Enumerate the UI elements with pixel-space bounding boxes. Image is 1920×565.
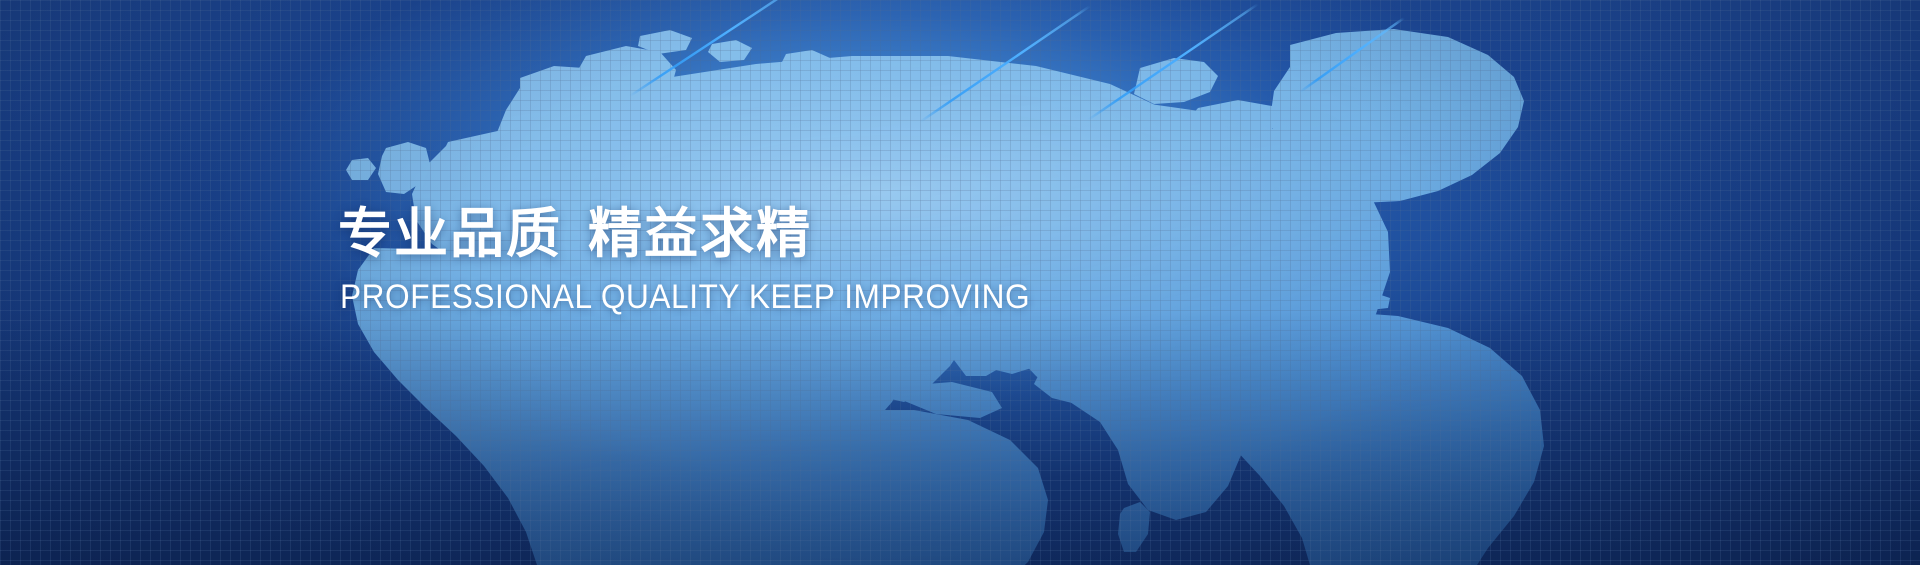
page-title: 专业品质精益求精 (338, 204, 1082, 264)
banner-copy: 专业品质精益求精 PROFESSIONAL QUALITY KEEP IMPRO… (338, 204, 1082, 316)
headline-cn-part-1: 专业品质 (338, 204, 562, 264)
promo-banner: 专业品质精益求精 PROFESSIONAL QUALITY KEEP IMPRO… (0, 0, 1920, 565)
page-subtitle: PROFESSIONAL QUALITY KEEP IMPROVING (340, 278, 1030, 316)
headline-cn-part-2: 精益求精 (588, 204, 812, 264)
